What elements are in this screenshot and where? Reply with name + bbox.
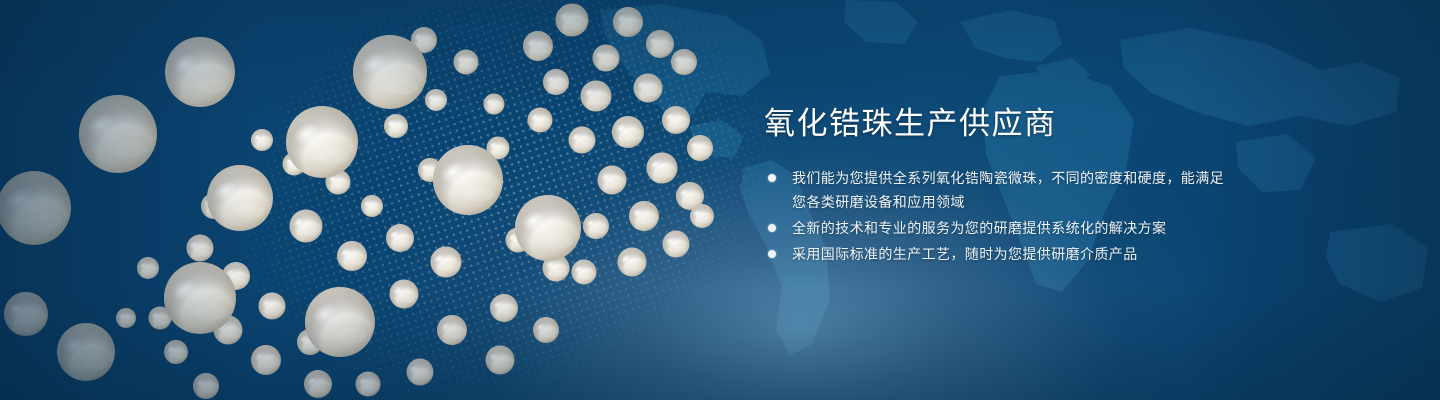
hero-banner: 氧化锆珠生产供应商 我们能为您提供全系列氧化锆陶瓷微珠，不同的密度和硬度，能满足… — [0, 0, 1440, 400]
list-item: 我们能为您提供全系列氧化锆陶瓷微珠，不同的密度和硬度，能满足您各类研磨设备和应用… — [764, 166, 1234, 214]
list-item: 全新的技术和专业的服务为您的研磨提供系统化的解决方案 — [764, 216, 1234, 240]
page-title: 氧化锆珠生产供应商 — [764, 104, 1234, 144]
bullet-dot-icon — [768, 224, 776, 232]
list-item-text: 采用国际标准的生产工艺，随时为您提供研磨介质产品 — [792, 246, 1138, 262]
list-item: 采用国际标准的生产工艺，随时为您提供研磨介质产品 — [764, 242, 1234, 266]
list-item-text: 全新的技术和专业的服务为您的研磨提供系统化的解决方案 — [792, 220, 1166, 236]
feature-list: 我们能为您提供全系列氧化锆陶瓷微珠，不同的密度和硬度，能满足您各类研磨设备和应用… — [764, 166, 1234, 266]
banner-copy: 氧化锆珠生产供应商 我们能为您提供全系列氧化锆陶瓷微珠，不同的密度和硬度，能满足… — [764, 104, 1234, 268]
bullet-dot-icon — [768, 174, 776, 182]
list-item-text: 我们能为您提供全系列氧化锆陶瓷微珠，不同的密度和硬度，能满足您各类研磨设备和应用… — [792, 170, 1224, 210]
bullet-dot-icon — [768, 250, 776, 258]
